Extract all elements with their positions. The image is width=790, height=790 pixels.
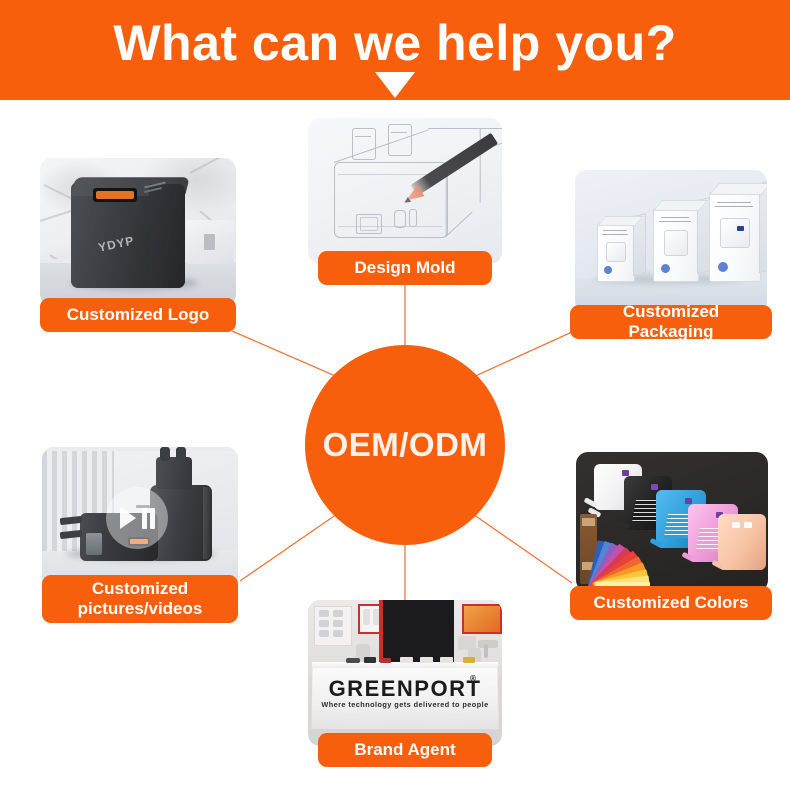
brand-agent-image: GREENPORT ® Where technology gets delive… xyxy=(308,600,502,746)
chevron-down-icon xyxy=(375,72,415,100)
booth-tagline-text: Where technology gets delivered to peopl… xyxy=(308,700,502,709)
registered-mark-icon: ® xyxy=(470,674,476,683)
hub-label: OEM/ODM xyxy=(323,426,488,464)
design-mold-image xyxy=(308,118,502,264)
play-pause-icon[interactable] xyxy=(106,487,168,549)
customized-logo-image: YDYP xyxy=(40,158,236,306)
customized-pictures-videos-image xyxy=(42,447,238,593)
connector-customized-logo xyxy=(232,331,340,378)
label-brand-agent[interactable]: Brand Agent xyxy=(318,733,492,767)
hub-circle[interactable]: OEM/ODM xyxy=(305,345,505,545)
label-design-mold[interactable]: Design Mold xyxy=(318,251,492,285)
page-title: What can we help you? xyxy=(0,14,790,72)
label-customized-colors[interactable]: Customized Colors xyxy=(570,586,772,620)
connector-customized-packaging xyxy=(471,332,572,378)
customized-colors-image xyxy=(576,452,768,592)
label-customized-pictures-videos[interactable]: Customized pictures/videos xyxy=(42,575,238,623)
connector-customized-colors xyxy=(470,512,572,583)
label-customized-logo[interactable]: Customized Logo xyxy=(40,298,236,332)
label-customized-packaging[interactable]: Customized Packaging xyxy=(570,305,772,339)
customized-packaging-image xyxy=(575,170,767,312)
connector-customized-pictures-videos xyxy=(240,512,340,581)
